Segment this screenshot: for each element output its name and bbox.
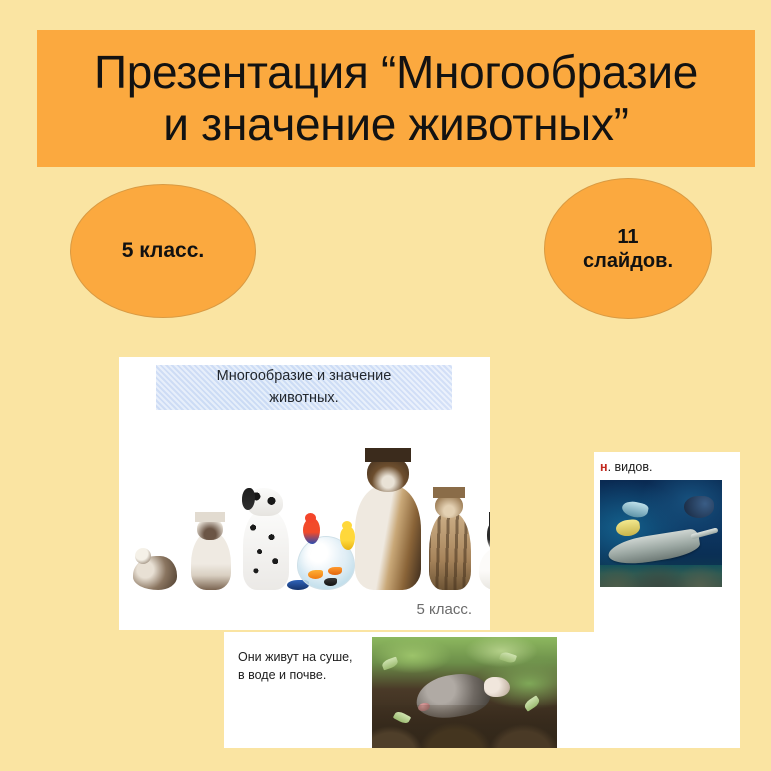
slide-title: Многообразие и значение животных. <box>217 366 392 408</box>
slide-thumbnail-main[interactable]: Многообразие и значение животных. 5 клас… <box>119 357 490 630</box>
slide-count-badge: 11 слайдов. <box>544 178 712 319</box>
presentation-title-banner: Презентация “Многообразие и значение жив… <box>37 30 755 167</box>
leaf-icon <box>381 657 399 671</box>
fish-icon-dark <box>684 496 714 518</box>
leaf-icon <box>499 651 517 665</box>
tabby-cat-icon <box>429 512 471 590</box>
mole-paw <box>484 677 510 697</box>
ferret-icon <box>133 556 177 590</box>
fish-icon-yellow <box>615 519 641 537</box>
grade-badge: 5 класс. <box>70 184 256 318</box>
slide-footer-label: 5 класс. <box>416 601 472 618</box>
page-title: Презентация “Многообразие и значение жив… <box>94 47 698 150</box>
slide-count-badge-label: 11 слайдов. <box>583 225 673 273</box>
goldfish-icon-1 <box>308 570 323 579</box>
underwater-photo <box>600 480 722 587</box>
fish-slide-caption-cut: н <box>600 460 608 474</box>
goldfish-icon-2 <box>328 567 342 575</box>
presentation-preview-stage: Презентация “Многообразие и значение жив… <box>0 0 771 771</box>
yellow-parrot-icon <box>340 526 355 550</box>
fish-slide-caption-text: . видов. <box>608 460 653 474</box>
slide-thumbnail-mole-habitat[interactable]: Они живут на суше, в воде и почве. <box>224 632 740 748</box>
mole-photo <box>372 637 557 748</box>
dalmatian-dog-icon <box>243 510 289 590</box>
red-parrot-icon <box>303 518 320 544</box>
siamese-cat-icon <box>191 532 231 590</box>
pet-row-photo <box>127 470 482 590</box>
slide-title-band: Многообразие и значение животных. <box>156 365 452 410</box>
grade-badge-label: 5 класс. <box>122 238 205 263</box>
slide-thumbnail-fish-species[interactable]: н. видов. <box>594 452 740 645</box>
rabbit-icon <box>479 548 490 590</box>
mole-slide-caption: Они живут на суше, в воде и почве. <box>238 648 353 684</box>
sheltie-dog-icon <box>355 486 421 590</box>
black-fish-icon <box>324 578 337 586</box>
fish-slide-caption: н. видов. <box>600 460 653 474</box>
coral-reef <box>600 565 722 587</box>
fish-icon-blue <box>621 499 650 519</box>
